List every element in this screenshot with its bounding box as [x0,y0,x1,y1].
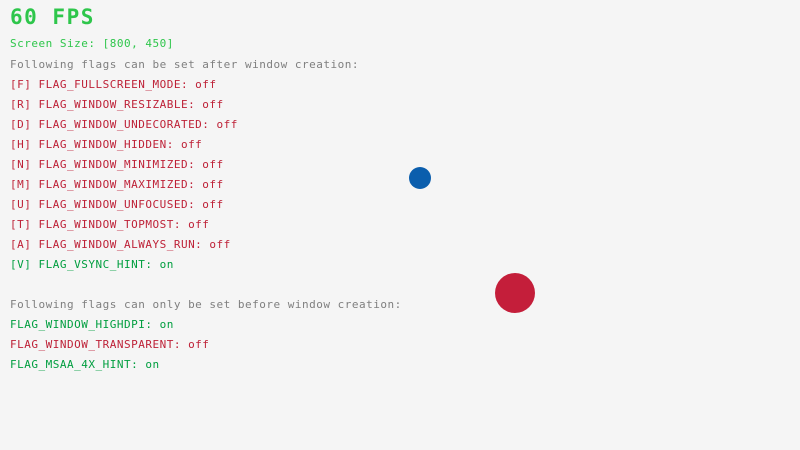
flag-flag-window-hidden[interactable]: [H] FLAG_WINDOW_HIDDEN: off [10,139,202,150]
flag-flag-window-unfocused[interactable]: [U] FLAG_WINDOW_UNFOCUSED: off [10,199,224,210]
flag-flag-msaa-4x-hint[interactable]: FLAG_MSAA_4X_HINT: on [10,359,160,370]
flag-flag-window-highdpi[interactable]: FLAG_WINDOW_HIGHDPI: on [10,319,174,330]
flag-flag-window-resizable[interactable]: [R] FLAG_WINDOW_RESIZABLE: off [10,99,224,110]
section-heading-creation-flags: Following flags can only be set before w… [10,299,402,310]
flag-flag-window-always-run[interactable]: [A] FLAG_WINDOW_ALWAYS_RUN: off [10,239,231,250]
flag-flag-window-topmost[interactable]: [T] FLAG_WINDOW_TOPMOST: off [10,219,209,230]
raylib-window: 60 FPS Screen Size: [800, 450] Following… [0,0,800,450]
flag-flag-vsync-hint[interactable]: [V] FLAG_VSYNC_HINT: on [10,259,174,270]
flag-flag-window-minimized[interactable]: [N] FLAG_WINDOW_MINIMIZED: off [10,159,224,170]
section-heading-runtime-flags: Following flags can be set after window … [10,59,359,70]
flag-flag-fullscreen-mode[interactable]: [F] FLAG_FULLSCREEN_MODE: off [10,79,217,90]
hud-layer: 60 FPS Screen Size: [800, 450] Following… [0,0,800,450]
flag-flag-window-maximized[interactable]: [M] FLAG_WINDOW_MAXIMIZED: off [10,179,224,190]
flag-flag-window-undecorated[interactable]: [D] FLAG_WINDOW_UNDECORATED: off [10,119,238,130]
screen-size-label: Screen Size: [800, 450] [10,38,174,49]
flag-flag-window-transparent[interactable]: FLAG_WINDOW_TRANSPARENT: off [10,339,209,350]
fps-counter: 60 FPS [10,7,95,28]
